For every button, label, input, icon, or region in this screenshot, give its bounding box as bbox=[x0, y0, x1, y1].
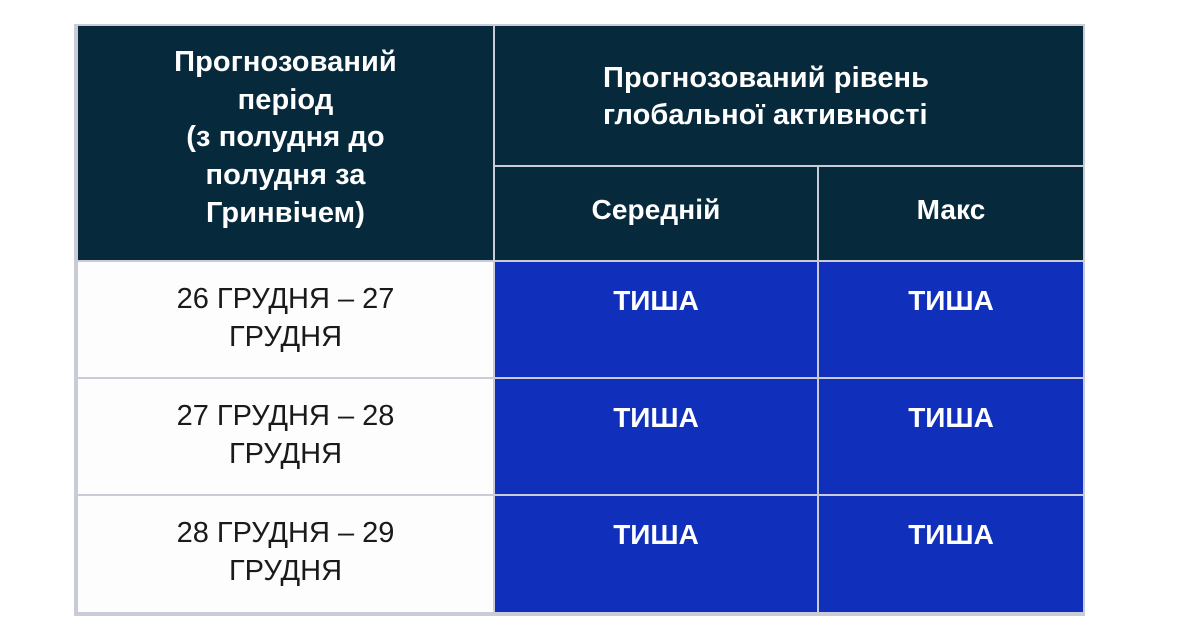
period-line-2: ГРУДНЯ bbox=[106, 436, 465, 474]
header-period-line-2: період bbox=[92, 82, 479, 120]
max-level-value: ТИША bbox=[819, 379, 1083, 494]
table-row: 28 ГРУДНЯ – 29 ГРУДНЯ ТИША ТИША bbox=[76, 496, 1083, 614]
table-body: 26 ГРУДНЯ – 27 ГРУДНЯ ТИША ТИША 27 ГРУДН… bbox=[76, 262, 1083, 614]
mean-level-value: ТИША bbox=[495, 262, 817, 377]
header-period-line-4: полудня за bbox=[92, 157, 479, 195]
header-period-line-5: Гринвічем) bbox=[92, 195, 479, 233]
period-value: 28 ГРУДНЯ – 29 ГРУДНЯ bbox=[78, 496, 493, 612]
header-row-primary: Прогнозований період (з полудня до полуд… bbox=[76, 26, 1083, 167]
header-cell-max: Макс bbox=[817, 167, 1083, 262]
period-line-2: ГРУДНЯ bbox=[106, 553, 465, 591]
table-header: Прогнозований період (з полудня до полуд… bbox=[76, 26, 1083, 262]
header-cell-mean: Середній bbox=[493, 167, 817, 262]
max-level-value: ТИША bbox=[819, 496, 1083, 612]
period-line-1: 27 ГРУДНЯ – 28 bbox=[106, 398, 465, 436]
header-period-content: Прогнозований період (з полудня до полуд… bbox=[78, 26, 493, 260]
period-value: 26 ГРУДНЯ – 27 ГРУДНЯ bbox=[78, 262, 493, 377]
period-line-2: ГРУДНЯ bbox=[106, 319, 465, 357]
header-activity-content: Прогнозований рівень глобальної активнос… bbox=[495, 26, 1083, 165]
table-row: 27 ГРУДНЯ – 28 ГРУДНЯ ТИША ТИША bbox=[76, 379, 1083, 496]
cell-mean-level: ТИША bbox=[493, 262, 817, 379]
page-canvas: Прогнозований період (з полудня до полуд… bbox=[0, 0, 1200, 622]
max-level-value: ТИША bbox=[819, 262, 1083, 377]
cell-max-level: ТИША bbox=[817, 262, 1083, 379]
cell-max-level: ТИША bbox=[817, 496, 1083, 614]
mean-level-value: ТИША bbox=[495, 379, 817, 494]
header-cell-activity: Прогнозований рівень глобальної активнос… bbox=[493, 26, 1083, 167]
cell-mean-level: ТИША bbox=[493, 379, 817, 496]
mean-level-value: ТИША bbox=[495, 496, 817, 612]
period-value: 27 ГРУДНЯ – 28 ГРУДНЯ bbox=[78, 379, 493, 494]
header-activity-line-2: глобальної активності bbox=[603, 97, 1067, 134]
cell-period: 28 ГРУДНЯ – 29 ГРУДНЯ bbox=[76, 496, 493, 614]
cell-period: 26 ГРУДНЯ – 27 ГРУДНЯ bbox=[76, 262, 493, 379]
header-cell-period: Прогнозований період (з полудня до полуд… bbox=[76, 26, 493, 262]
header-period-line-1: Прогнозований bbox=[92, 44, 479, 82]
period-line-1: 28 ГРУДНЯ – 29 bbox=[106, 515, 465, 553]
table-row: 26 ГРУДНЯ – 27 ГРУДНЯ ТИША ТИША bbox=[76, 262, 1083, 379]
cell-max-level: ТИША bbox=[817, 379, 1083, 496]
header-activity-line-1: Прогнозований рівень bbox=[603, 60, 1067, 97]
period-line-1: 26 ГРУДНЯ – 27 bbox=[106, 281, 465, 319]
header-period-line-3: (з полудня до bbox=[92, 119, 479, 157]
header-mean-label: Середній bbox=[495, 167, 817, 260]
cell-mean-level: ТИША bbox=[493, 496, 817, 614]
geomagnetic-forecast-table: Прогнозований період (з полудня до полуд… bbox=[76, 26, 1083, 614]
cell-period: 27 ГРУДНЯ – 28 ГРУДНЯ bbox=[76, 379, 493, 496]
header-max-label: Макс bbox=[819, 167, 1083, 260]
